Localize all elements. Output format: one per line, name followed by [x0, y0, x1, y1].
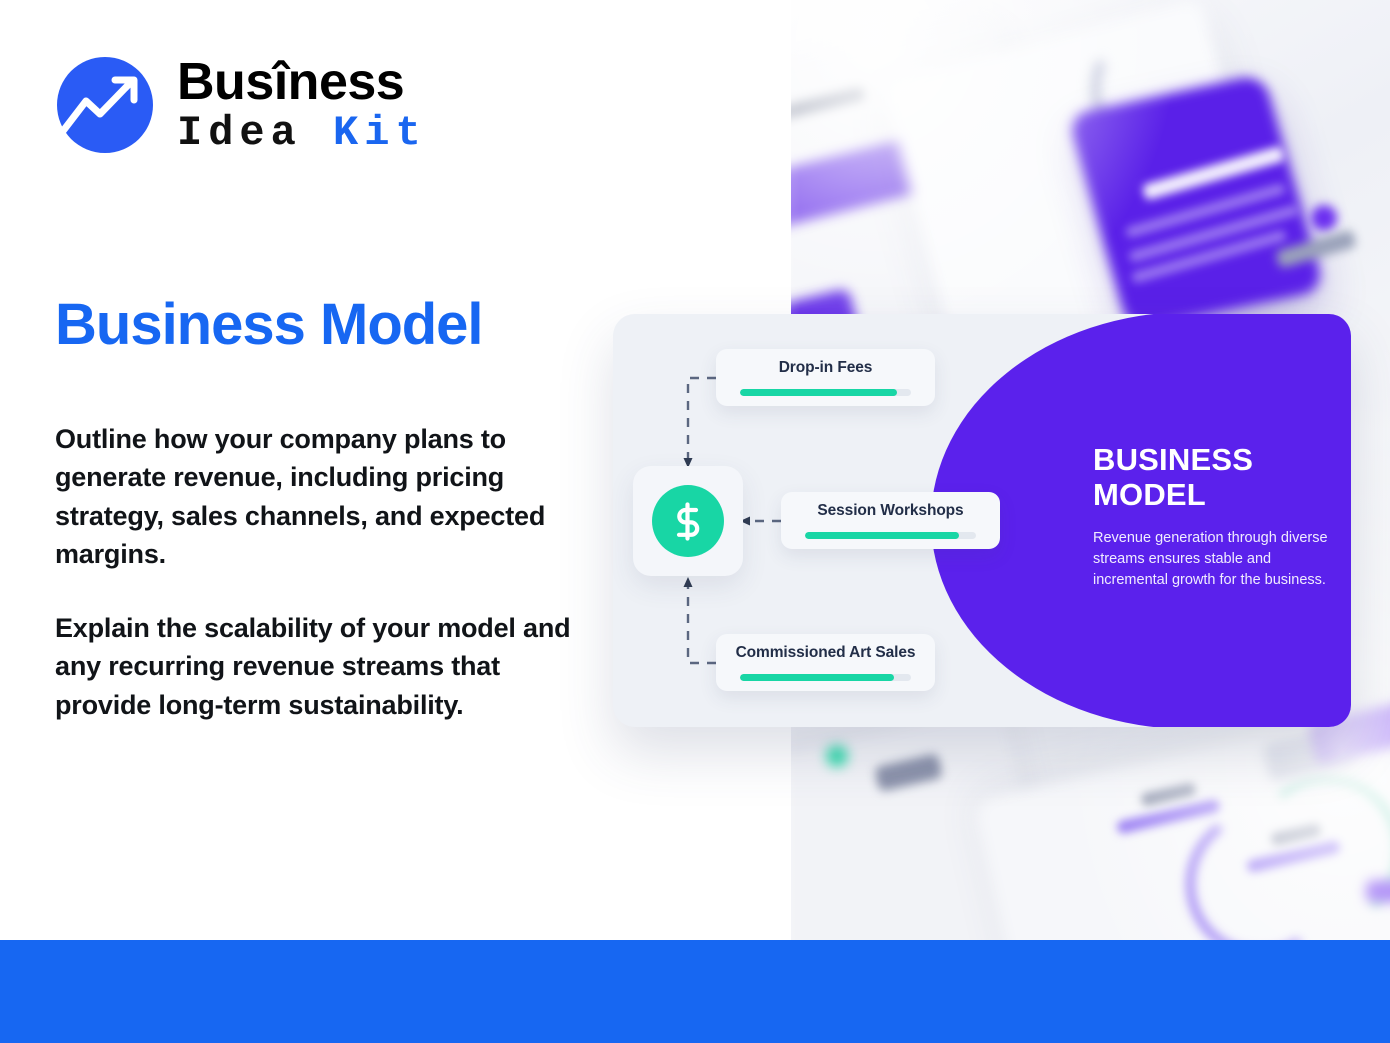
revenue-stream-fill: [740, 389, 897, 396]
revenue-stream-card[interactable]: Commissioned Art Sales: [716, 634, 935, 691]
dollar-sign-icon: [652, 485, 724, 557]
revenue-stream-track: [740, 389, 911, 396]
revenue-stream-label: Commissioned Art Sales: [736, 644, 916, 662]
purple-panel-content: BUSINESSMODEL Revenue generation through…: [1093, 443, 1355, 590]
revenue-stream-card[interactable]: Session Workshops: [781, 492, 1000, 549]
revenue-stream-fill: [740, 674, 894, 681]
revenue-stream-label: Session Workshops: [817, 502, 963, 520]
brand-wordmark: Busîness Idea Kit: [177, 56, 427, 154]
purple-panel-title-line2: MODEL: [1093, 477, 1206, 512]
body-paragraph-1: Outline how your company plans to genera…: [55, 420, 580, 573]
page-title: Business Model: [55, 295, 483, 356]
slide-page: Busîness Idea Kit Business Model Outline…: [0, 0, 1390, 1043]
revenue-stream-track: [740, 674, 911, 681]
purple-panel-description: Revenue generation through diverse strea…: [1093, 528, 1338, 590]
dollar-glyph: [665, 498, 711, 544]
revenue-stream-fill: [805, 532, 959, 539]
brand-name-bottom-accent: Kit: [333, 109, 427, 157]
revenue-hub: [633, 466, 743, 576]
footer-bar: [0, 940, 1390, 1043]
brand-name-top: Busîness: [177, 56, 427, 108]
revenue-stream-track: [805, 532, 976, 539]
purple-panel-title-line1: BUSINESS: [1093, 442, 1253, 477]
brand-logo: Busîness Idea Kit: [55, 55, 427, 155]
growth-chart-circle-icon: [55, 55, 155, 155]
revenue-stream-label: Drop-in Fees: [779, 359, 873, 377]
revenue-stream-card[interactable]: Drop-in Fees: [716, 349, 935, 406]
brand-name-bottom-main: Idea: [177, 109, 333, 157]
purple-panel-title: BUSINESSMODEL: [1093, 443, 1355, 512]
body-paragraph-2: Explain the scalability of your model an…: [55, 609, 580, 724]
brand-name-bottom: Idea Kit: [177, 112, 427, 154]
